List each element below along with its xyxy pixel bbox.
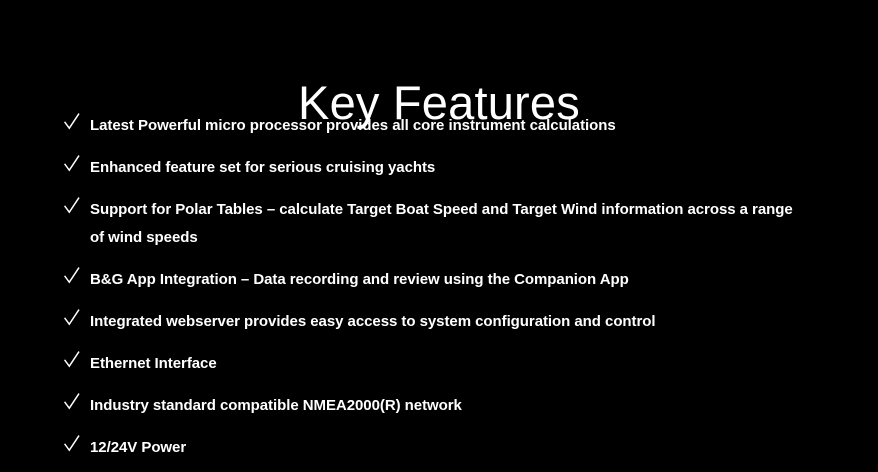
list-item: Latest Powerful micro processor provides… bbox=[62, 112, 822, 140]
feature-text: Industry standard compatible NMEA2000(R)… bbox=[90, 392, 808, 420]
features-list: Latest Powerful micro processor provides… bbox=[62, 112, 822, 462]
check-icon bbox=[64, 112, 80, 131]
check-icon bbox=[64, 196, 80, 215]
check-icon bbox=[64, 308, 80, 327]
feature-text: Latest Powerful micro processor provides… bbox=[90, 112, 808, 140]
check-icon bbox=[64, 350, 80, 369]
check-icon bbox=[64, 434, 80, 453]
key-features-slide: Key Features Latest Powerful micro proce… bbox=[0, 0, 878, 472]
feature-text: Ethernet Interface bbox=[90, 350, 808, 378]
list-item: 12/24V Power bbox=[62, 434, 822, 462]
feature-text: B&G App Integration – Data recording and… bbox=[90, 266, 808, 294]
feature-text: 12/24V Power bbox=[90, 434, 808, 462]
check-icon bbox=[64, 154, 80, 173]
list-item: Support for Polar Tables – calculate Tar… bbox=[62, 196, 822, 252]
list-item: Integrated webserver provides easy acces… bbox=[62, 308, 822, 336]
feature-text: Integrated webserver provides easy acces… bbox=[90, 308, 808, 336]
feature-text: Enhanced feature set for serious cruisin… bbox=[90, 154, 808, 182]
check-icon bbox=[64, 266, 80, 285]
list-item: Ethernet Interface bbox=[62, 350, 822, 378]
list-item: Industry standard compatible NMEA2000(R)… bbox=[62, 392, 822, 420]
feature-text: Support for Polar Tables – calculate Tar… bbox=[90, 196, 808, 252]
list-item: B&G App Integration – Data recording and… bbox=[62, 266, 822, 294]
check-icon bbox=[64, 392, 80, 411]
list-item: Enhanced feature set for serious cruisin… bbox=[62, 154, 822, 182]
